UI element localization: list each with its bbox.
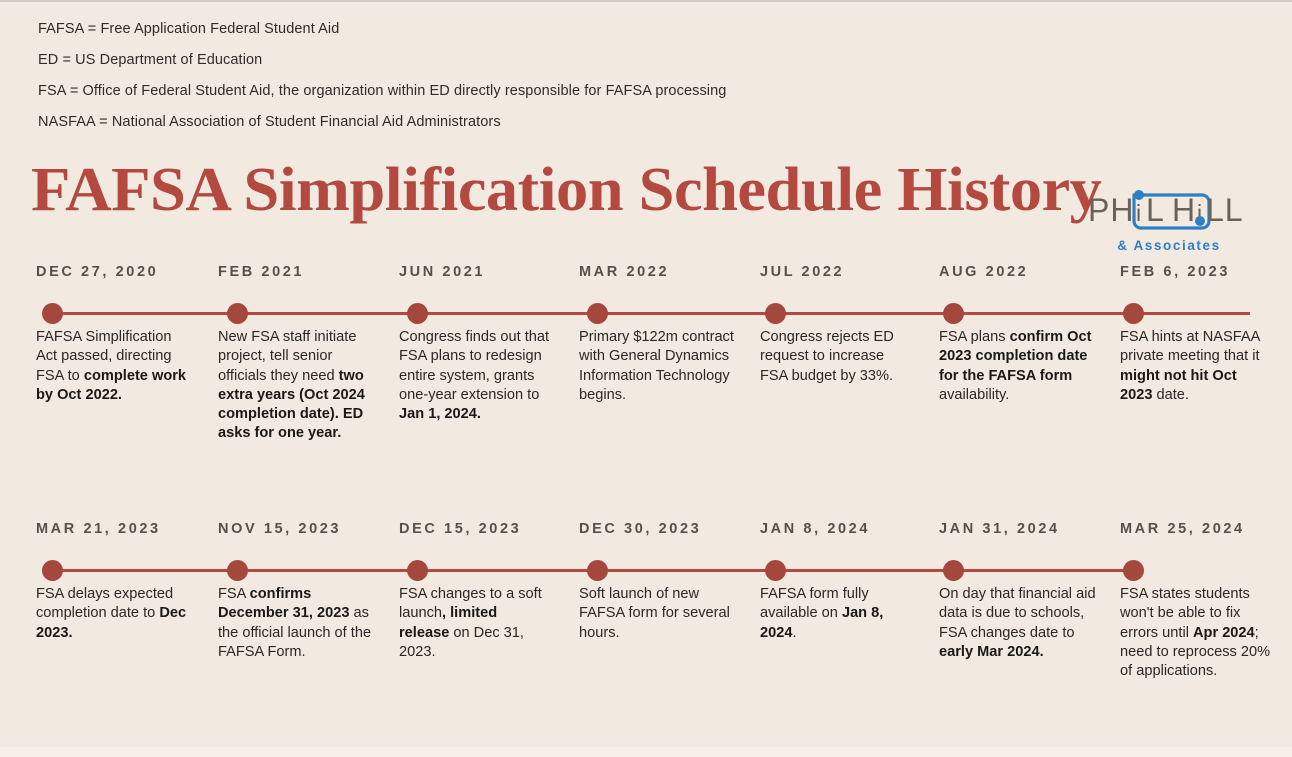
plain-text: FSA hints at NASFAA private meeting that… <box>1120 329 1260 364</box>
timeline-dot <box>227 303 248 324</box>
timeline-dot <box>765 560 786 581</box>
timeline-row-1-dates: DEC 27, 2020FEB 2021JUN 2021MAR 2022JUL … <box>0 264 1292 298</box>
timeline-row-1: DEC 27, 2020FEB 2021JUN 2021MAR 2022JUL … <box>0 264 1292 328</box>
timeline-dot <box>227 560 248 581</box>
timeline-date-label: DEC 27, 2020 <box>36 264 158 280</box>
timeline-date-label: JAN 8, 2024 <box>760 521 870 537</box>
timeline-date-label: NOV 15, 2023 <box>218 521 341 537</box>
timeline-dot <box>765 303 786 324</box>
timeline-date-label: FEB 6, 2023 <box>1120 264 1230 280</box>
abbreviations-legend: FAFSA = Free Application Federal Student… <box>38 14 1218 138</box>
legend-line: FAFSA = Free Application Federal Student… <box>38 14 1218 45</box>
timeline-dot <box>42 303 63 324</box>
emphasis-text: Jan 1, 2024. <box>399 406 481 422</box>
brand-logo: PH i L H i LL & Associates <box>1084 178 1254 258</box>
timeline-event-text: FSA states students won't be able to fix… <box>1120 585 1280 681</box>
timeline-row-2: MAR 21, 2023NOV 15, 2023DEC 15, 2023DEC … <box>0 521 1292 585</box>
timeline-event-text: FAFSA Simplification Act passed, directi… <box>36 328 194 405</box>
timeline-date-label: FEB 2021 <box>218 264 304 280</box>
timeline-row-1-axis <box>0 298 1292 328</box>
timeline-event-text: New FSA staff initiate project, tell sen… <box>218 328 376 444</box>
timeline-row-2-dates: MAR 21, 2023NOV 15, 2023DEC 15, 2023DEC … <box>0 521 1292 555</box>
timeline-date-label: AUG 2022 <box>939 264 1028 280</box>
logo-tagline: & Associates <box>1084 238 1254 253</box>
timeline-event-text: Congress rejects ED request to increase … <box>760 328 915 386</box>
plain-text: Soft launch of new FAFSA form for severa… <box>579 586 730 641</box>
page-title: FAFSA Simplification Schedule History <box>31 154 1101 226</box>
timeline-date-label: JUN 2021 <box>399 264 485 280</box>
timeline-dot <box>587 560 608 581</box>
timeline-event-text: Congress finds out that FSA plans to red… <box>399 328 551 424</box>
legend-line: NASFAA = National Association of Student… <box>38 107 1218 138</box>
plain-text: FSA plans <box>939 329 1010 345</box>
timeline-date-label: MAR 25, 2024 <box>1120 521 1245 537</box>
infographic-page: FAFSA = Free Application Federal Student… <box>0 2 1292 757</box>
plain-text: Congress finds out that FSA plans to red… <box>399 329 549 403</box>
timeline-dot <box>42 560 63 581</box>
timeline-event-text: FSA delays expected completion date to D… <box>36 585 191 643</box>
emphasis-text: Apr 2024 <box>1193 625 1255 641</box>
legend-line: ED = US Department of Education <box>38 45 1218 76</box>
timeline-dot <box>1123 560 1144 581</box>
timeline-event-text: FSA plans confirm Oct 2023 completion da… <box>939 328 1099 405</box>
plain-text: availability. <box>939 387 1009 403</box>
plain-text: Primary $122m contract with General Dyna… <box>579 329 734 403</box>
svg-text:LL: LL <box>1206 192 1244 228</box>
timeline-date-label: JAN 31, 2024 <box>939 521 1060 537</box>
bottom-strip <box>0 747 1292 757</box>
plain-text: . <box>792 625 796 641</box>
timeline-dot <box>943 560 964 581</box>
plain-text: date. <box>1152 387 1189 403</box>
timeline-date-label: MAR 21, 2023 <box>36 521 161 537</box>
timeline-event-text: FAFSA form fully available on Jan 8, 202… <box>760 585 915 643</box>
timeline-dot <box>943 303 964 324</box>
plain-text: New FSA staff initiate project, tell sen… <box>218 329 356 384</box>
plain-text: FSA <box>218 586 250 602</box>
plain-text: FSA delays expected completion date to <box>36 586 173 621</box>
timeline-date-label: DEC 15, 2023 <box>399 521 521 537</box>
timeline-event-text: Soft launch of new FAFSA form for severa… <box>579 585 739 643</box>
svg-text:H: H <box>1172 192 1196 228</box>
timeline-dot <box>1123 303 1144 324</box>
timeline-dot <box>407 560 428 581</box>
plain-text: On day that financial aid data is due to… <box>939 586 1096 641</box>
timeline-date-label: DEC 30, 2023 <box>579 521 701 537</box>
timeline-row-2-axis <box>0 555 1292 585</box>
svg-text:PH: PH <box>1088 192 1134 228</box>
timeline-dot <box>587 303 608 324</box>
svg-text:L: L <box>1146 192 1165 228</box>
timeline-event-text: Primary $122m contract with General Dyna… <box>579 328 742 405</box>
timeline-event-text: On day that financial aid data is due to… <box>939 585 1099 662</box>
logo-dot-left <box>1134 190 1144 200</box>
logo-mark: PH i L H i LL <box>1084 178 1254 240</box>
timeline-event-text: FSA confirms December 31, 2023 as the of… <box>218 585 376 662</box>
timeline-event-text: FSA hints at NASFAA private meeting that… <box>1120 328 1272 405</box>
legend-line: FSA = Office of Federal Student Aid, the… <box>38 76 1218 107</box>
svg-text:i: i <box>1136 200 1141 226</box>
timeline-event-text: FSA changes to a soft launch, limited re… <box>399 585 551 662</box>
plain-text: Congress rejects ED request to increase … <box>760 329 894 384</box>
logo-dot-right <box>1195 216 1205 226</box>
timeline-dot <box>407 303 428 324</box>
emphasis-text: early Mar 2024. <box>939 644 1044 660</box>
timeline-date-label: JUL 2022 <box>760 264 844 280</box>
timeline-date-label: MAR 2022 <box>579 264 669 280</box>
